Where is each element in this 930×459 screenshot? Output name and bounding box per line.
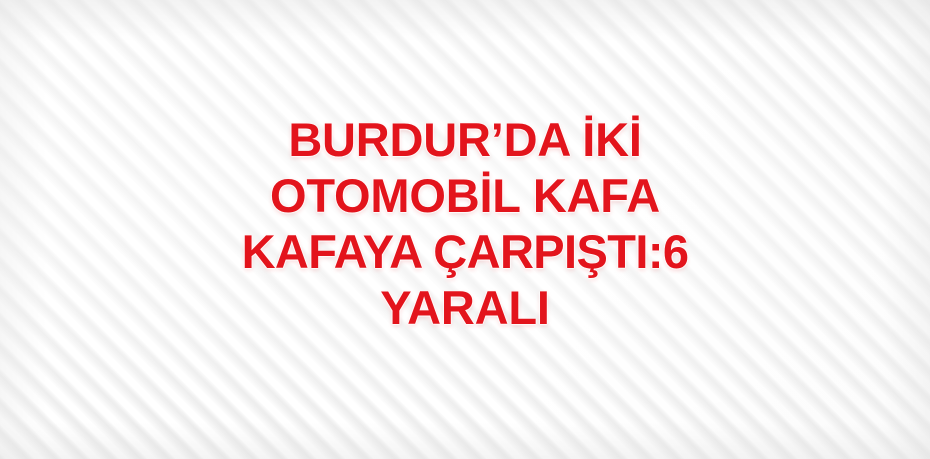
news-headline-card: BURDUR’DA İKİ OTOMOBİL KAFA KAFAYA ÇARPI… — [0, 0, 930, 459]
headline-text-block: BURDUR’DA İKİ OTOMOBİL KAFA KAFAYA ÇARPI… — [0, 112, 930, 336]
headline-line-4: YARALI — [28, 280, 902, 336]
headline-line-1: BURDUR’DA İKİ — [28, 112, 902, 168]
headline-line-2: OTOMOBİL KAFA — [28, 168, 902, 224]
headline-line-3: KAFAYA ÇARPIŞTI:6 — [28, 224, 902, 280]
